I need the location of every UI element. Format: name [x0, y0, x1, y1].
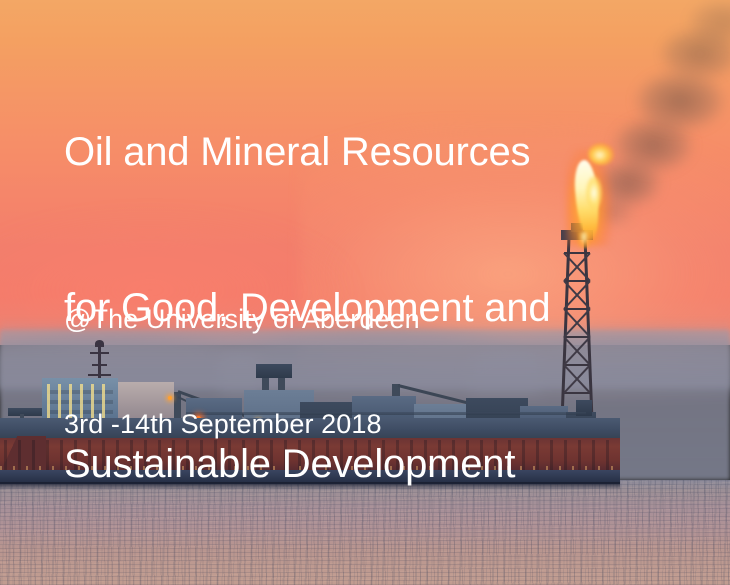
poster-image: Oil and Mineral Resources for Good, Deve… [0, 0, 730, 585]
title-line-1: Oil and Mineral Resources [64, 126, 664, 178]
poster-subtitle: @The University of Aberdeen 3rd -14th Se… [64, 232, 664, 512]
venue-line: @The University of Aberdeen [64, 302, 664, 337]
dates-line: 3rd -14th September 2018 [64, 407, 664, 442]
